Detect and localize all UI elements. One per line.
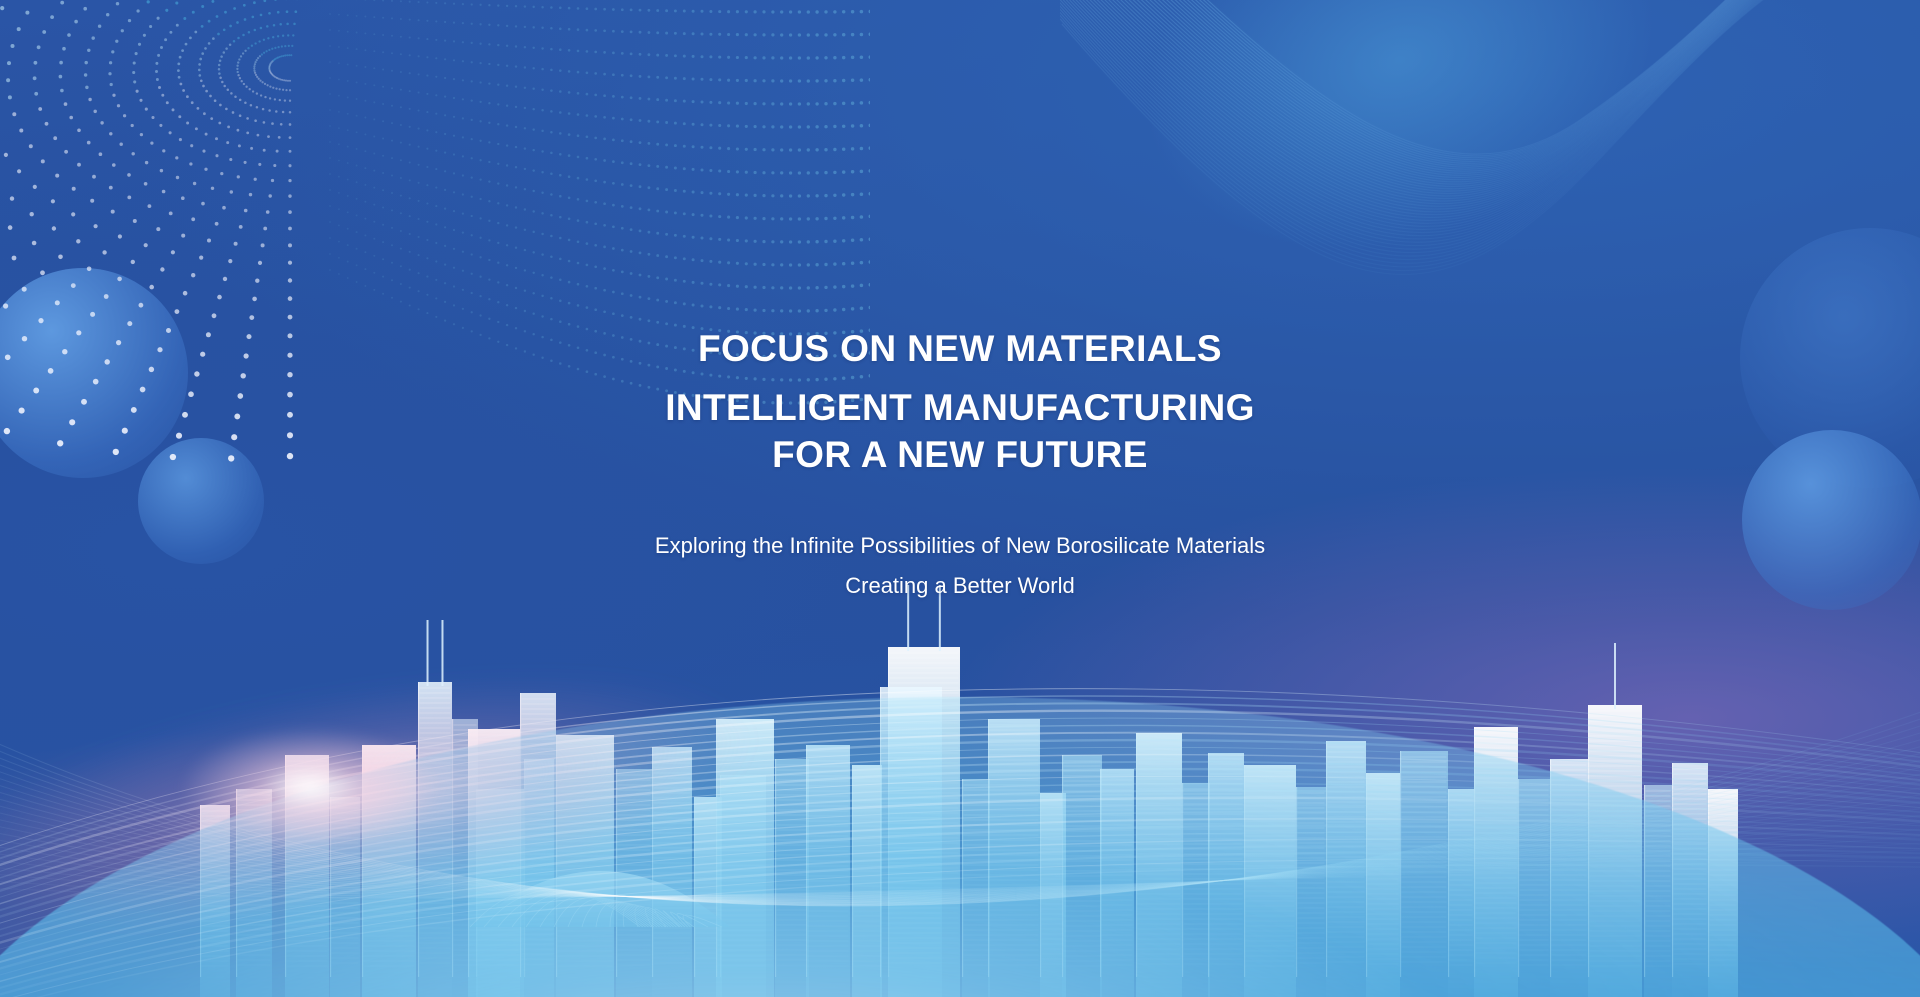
subtitle-line-1: Exploring the Infinite Possibilities of … [0, 535, 1920, 557]
headline-line-1: FOCUS ON NEW MATERIALS [0, 330, 1920, 367]
subtitle-block: Exploring the Infinite Possibilities of … [0, 535, 1920, 597]
hero-banner: FOCUS ON NEW MATERIALS INTELLIGENT MANUF… [0, 0, 1920, 997]
flow-lines-graphic [1060, 0, 1920, 380]
headline-line-3: FOR A NEW FUTURE [0, 436, 1920, 473]
subtitle-line-2: Creating a Better World [0, 575, 1920, 597]
banner-copy: FOCUS ON NEW MATERIALS INTELLIGENT MANUF… [0, 330, 1920, 597]
headline-line-2: INTELLIGENT MANUFACTURING [0, 389, 1920, 426]
light-hotspot [180, 727, 440, 847]
